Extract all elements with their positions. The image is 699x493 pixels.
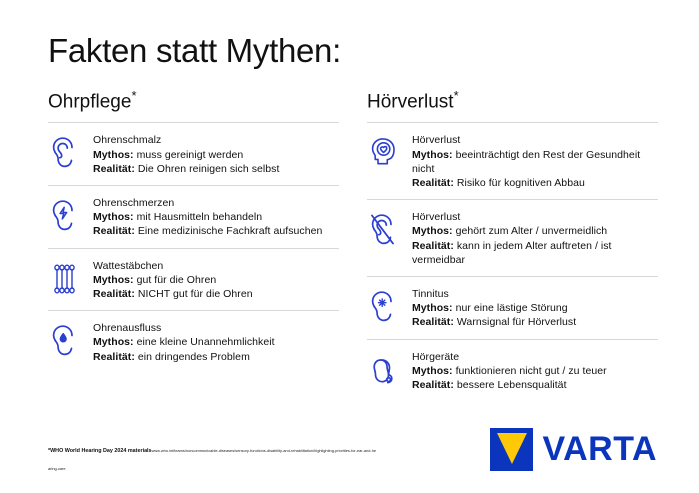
- list-item: Ohrenausfluss Mythos: eine kleine Unanne…: [48, 310, 339, 373]
- list-item: Tinnitus Mythos: nur eine lästige Störun…: [367, 276, 658, 339]
- list-item-text: Ohrenschmerzen Mythos: mit Hausmitteln b…: [93, 195, 339, 239]
- mythos-value: gehört zum Alter / unvermeidlich: [456, 225, 608, 237]
- realitaet-label: Realität:: [93, 225, 135, 237]
- column-ohrpflege: Ohrpflege* Ohrenschmalz Mythos: muss ger…: [48, 88, 339, 401]
- entry-realitaet: Realität: ein dringendes Problem: [93, 350, 339, 364]
- entry-mythos: Mythos: eine kleine Unannehmlichkeit: [93, 335, 339, 349]
- list-item-text: Hörgeräte Mythos: funktionieren nicht gu…: [412, 349, 658, 393]
- realitaet-value: Risiko für kognitiven Abbau: [457, 177, 585, 189]
- mythos-label: Mythos:: [93, 274, 134, 286]
- realitaet-label: Realität:: [412, 379, 454, 391]
- list-item-text: Wattestäbchen Mythos: gut für die Ohren …: [93, 258, 339, 302]
- entry-mythos: Mythos: gehört zum Alter / unvermeidlich: [412, 224, 658, 238]
- entry-topic: Ohrenschmerzen: [93, 196, 339, 210]
- entry-topic: Wattestäbchen: [93, 259, 339, 273]
- column-hoerverlust: Hörverlust* Hörverlust Mythos: beeinträc…: [367, 88, 658, 401]
- mythos-label: Mythos:: [412, 302, 453, 314]
- footnote: *WHO World Hearing Day 2024 materialswww…: [48, 439, 378, 475]
- list-item: Ohrenschmerzen Mythos: mit Hausmitteln b…: [48, 185, 339, 248]
- entry-topic: Hörgeräte: [412, 350, 658, 364]
- entry-realitaet: Realität: Warnsignal für Hörverlust: [412, 315, 658, 329]
- infographic-page: Fakten statt Mythen: Ohrpflege* Ohrensch…: [0, 0, 699, 493]
- ear-pain-bolt-icon: [48, 195, 82, 235]
- realitaet-value: ein dringendes Problem: [138, 351, 250, 363]
- hearing-aid-icon: [367, 349, 401, 389]
- realitaet-label: Realität:: [412, 240, 454, 252]
- entry-mythos: Mythos: muss gereinigt werden: [93, 148, 339, 162]
- realitaet-label: Realität:: [93, 288, 135, 300]
- entry-realitaet: Realität: Eine medizinische Fachkraft au…: [93, 224, 339, 238]
- mythos-label: Mythos:: [412, 365, 453, 377]
- varta-wordmark: VARTA: [542, 430, 657, 469]
- realitaet-value: bessere Lebensqualität: [457, 379, 567, 391]
- realitaet-value: Warnsignal für Hörverlust: [457, 316, 576, 328]
- entry-realitaet: Realität: kann in jedem Alter auftreten …: [412, 239, 658, 267]
- mythos-label: Mythos:: [93, 211, 134, 223]
- ear-tinnitus-sparkle-icon: [367, 286, 401, 326]
- columns-container: Ohrpflege* Ohrenschmalz Mythos: muss ger…: [48, 88, 658, 401]
- realitaet-label: Realität:: [412, 316, 454, 328]
- list-item: Hörverlust Mythos: beeinträchtigt den Re…: [367, 122, 658, 199]
- entry-realitaet: Realität: Die Ohren reinigen sich selbst: [93, 162, 339, 176]
- realitaet-label: Realität:: [93, 163, 135, 175]
- entry-mythos: Mythos: funktionieren nicht gut / zu teu…: [412, 364, 658, 378]
- list-item: Wattestäbchen Mythos: gut für die Ohren …: [48, 248, 339, 311]
- entry-mythos: Mythos: gut für die Ohren: [93, 273, 339, 287]
- column-heading-text: Hörverlust: [367, 91, 454, 112]
- mythos-value: funktionieren nicht gut / zu teuer: [456, 365, 607, 377]
- entry-mythos: Mythos: nur eine lästige Störung: [412, 301, 658, 315]
- list-item: Hörgeräte Mythos: funktionieren nicht gu…: [367, 339, 658, 402]
- varta-logo-mark: [490, 428, 533, 471]
- entry-realitaet: Realität: NICHT gut für die Ohren: [93, 287, 339, 301]
- entry-mythos: Mythos: beeinträchtigt den Rest der Gesu…: [412, 148, 658, 176]
- mythos-value: muss gereinigt werden: [137, 149, 244, 161]
- mythos-label: Mythos:: [412, 149, 453, 161]
- realitaet-value: Die Ohren reinigen sich selbst: [138, 163, 280, 175]
- mythos-label: Mythos:: [93, 336, 134, 348]
- list-item-text: Hörverlust Mythos: gehört zum Alter / un…: [412, 209, 658, 267]
- entry-topic: Ohrenschmalz: [93, 133, 339, 147]
- mythos-value: gut für die Ohren: [137, 274, 217, 286]
- column-heading-text: Ohrpflege: [48, 91, 131, 112]
- varta-logo: VARTA: [490, 428, 657, 471]
- mythos-value: eine kleine Unannehmlichkeit: [137, 336, 275, 348]
- entry-realitaet: Realität: bessere Lebensqualität: [412, 378, 658, 392]
- column-heading-hoerverlust: Hörverlust*: [367, 88, 658, 113]
- ear-icon: [48, 132, 82, 172]
- head-brain-heart-icon: [367, 132, 401, 172]
- cotton-swabs-icon: [48, 258, 82, 298]
- realitaet-value: NICHT gut für die Ohren: [138, 288, 253, 300]
- mythos-label: Mythos:: [412, 225, 453, 237]
- triangle-down-icon: [497, 433, 527, 464]
- entry-topic: Ohrenausfluss: [93, 321, 339, 335]
- list-item-text: Hörverlust Mythos: beeinträchtigt den Re…: [412, 132, 658, 190]
- heading-asterisk: *: [131, 88, 136, 103]
- list-item: Hörverlust Mythos: gehört zum Alter / un…: [367, 199, 658, 276]
- entry-topic: Hörverlust: [412, 133, 658, 147]
- entry-topic: Hörverlust: [412, 210, 658, 224]
- realitaet-label: Realität:: [93, 351, 135, 363]
- mythos-value: nur eine lästige Störung: [456, 302, 568, 314]
- list-item-text: Ohrenschmalz Mythos: muss gereinigt werd…: [93, 132, 339, 176]
- realitaet-label: Realität:: [412, 177, 454, 189]
- ear-discharge-drop-icon: [48, 320, 82, 360]
- column-heading-ohrpflege: Ohrpflege*: [48, 88, 339, 113]
- heading-asterisk: *: [454, 88, 459, 103]
- list-item: Ohrenschmalz Mythos: muss gereinigt werd…: [48, 122, 339, 185]
- footnote-source: *WHO World Hearing Day 2024 materials: [48, 448, 152, 454]
- page-title: Fakten statt Mythen:: [48, 32, 341, 70]
- realitaet-value: Eine medizinische Fachkraft aufsuchen: [138, 225, 323, 237]
- entry-topic: Tinnitus: [412, 287, 658, 301]
- ear-crossed-out-icon: [367, 209, 401, 249]
- entry-mythos: Mythos: mit Hausmitteln behandeln: [93, 210, 339, 224]
- mythos-label: Mythos:: [93, 149, 134, 161]
- list-item-text: Tinnitus Mythos: nur eine lästige Störun…: [412, 286, 658, 330]
- mythos-value: mit Hausmitteln behandeln: [137, 211, 263, 223]
- list-item-text: Ohrenausfluss Mythos: eine kleine Unanne…: [93, 320, 339, 364]
- entry-realitaet: Realität: Risiko für kognitiven Abbau: [412, 176, 658, 190]
